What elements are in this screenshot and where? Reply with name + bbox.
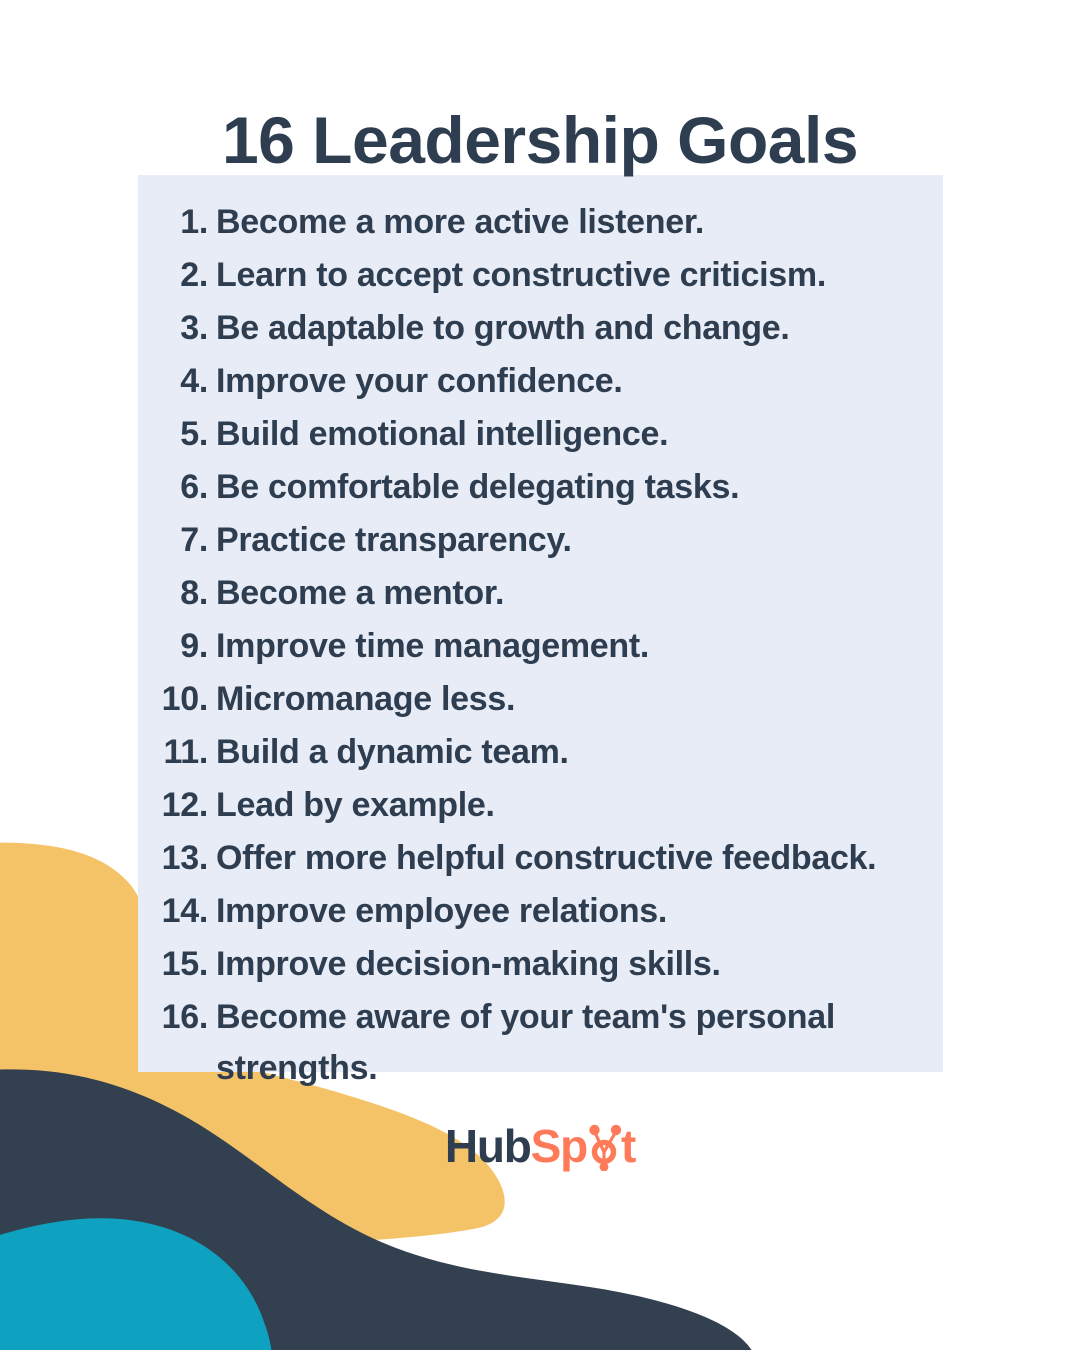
list-item-text: Be adaptable to growth and change.	[216, 303, 925, 354]
list-item-number: 16.	[138, 992, 216, 1043]
list-item-text: Learn to accept constructive criticism.	[216, 250, 925, 301]
list-item-text: Improve your confidence.	[216, 356, 925, 407]
list-item: 12. Lead by example.	[138, 780, 943, 831]
list-item-text: Build a dynamic team.	[216, 727, 925, 778]
list-item: 9. Improve time management.	[138, 621, 943, 672]
list-item: 3. Be adaptable to growth and change.	[138, 303, 943, 354]
goals-list: 1. Become a more active listener. 2. Lea…	[138, 197, 943, 1094]
hubspot-sprocket-icon	[584, 1119, 624, 1171]
list-item: 14. Improve employee relations.	[138, 886, 943, 937]
list-item-text: Become a more active listener.	[216, 197, 925, 248]
list-item: 13. Offer more helpful constructive feed…	[138, 833, 943, 884]
list-item: 6. Be comfortable delegating tasks.	[138, 462, 943, 513]
list-item-text: Improve decision-making skills.	[216, 939, 925, 990]
teal-blob	[0, 1218, 272, 1350]
poster-canvas: 16 Leadership Goals 1. Become a more act…	[0, 0, 1080, 1350]
list-item: 10. Micromanage less.	[138, 674, 943, 725]
list-item: 15. Improve decision-making skills.	[138, 939, 943, 990]
list-item-number: 5.	[138, 409, 216, 460]
list-item: 7. Practice transparency.	[138, 515, 943, 566]
list-item-text: Micromanage less.	[216, 674, 925, 725]
goals-panel: 1. Become a more active listener. 2. Lea…	[138, 175, 943, 1072]
list-item: 8. Become a mentor.	[138, 568, 943, 619]
navy-blob	[0, 1069, 756, 1350]
list-item-number: 7.	[138, 515, 216, 566]
logo-text-sp: Sp	[531, 1120, 587, 1172]
list-item-number: 3.	[138, 303, 216, 354]
list-item-text: Become aware of your team's personal str…	[216, 992, 925, 1094]
list-item-text: Lead by example.	[216, 780, 925, 831]
list-item-text: Improve employee relations.	[216, 886, 925, 937]
list-item-number: 9.	[138, 621, 216, 672]
list-item-text: Be comfortable delegating tasks.	[216, 462, 925, 513]
list-item-number: 14.	[138, 886, 216, 937]
list-item: 16. Become aware of your team's personal…	[138, 992, 943, 1094]
hubspot-logo: HubSp t	[0, 1118, 1080, 1174]
list-item-text: Offer more helpful constructive feedback…	[216, 833, 925, 884]
list-item: 1. Become a more active listener.	[138, 197, 943, 248]
list-item-text: Improve time management.	[216, 621, 925, 672]
list-item-number: 4.	[138, 356, 216, 407]
list-item-number: 8.	[138, 568, 216, 619]
list-item-number: 2.	[138, 250, 216, 301]
list-item-number: 6.	[138, 462, 216, 513]
list-item: 2. Learn to accept constructive criticis…	[138, 250, 943, 301]
list-item-number: 1.	[138, 197, 216, 248]
list-item: 11. Build a dynamic team.	[138, 727, 943, 778]
list-item-number: 11.	[138, 727, 216, 778]
list-item-number: 15.	[138, 939, 216, 990]
list-item-text: Build emotional intelligence.	[216, 409, 925, 460]
list-item-number: 10.	[138, 674, 216, 725]
list-item-text: Practice transparency.	[216, 515, 925, 566]
list-item: 5. Build emotional intelligence.	[138, 409, 943, 460]
page-title: 16 Leadership Goals	[0, 106, 1080, 175]
list-item-number: 12.	[138, 780, 216, 831]
list-item-text: Become a mentor.	[216, 568, 925, 619]
list-item: 4. Improve your confidence.	[138, 356, 943, 407]
list-item-number: 13.	[138, 833, 216, 884]
logo-text-hub: Hub	[445, 1120, 531, 1172]
